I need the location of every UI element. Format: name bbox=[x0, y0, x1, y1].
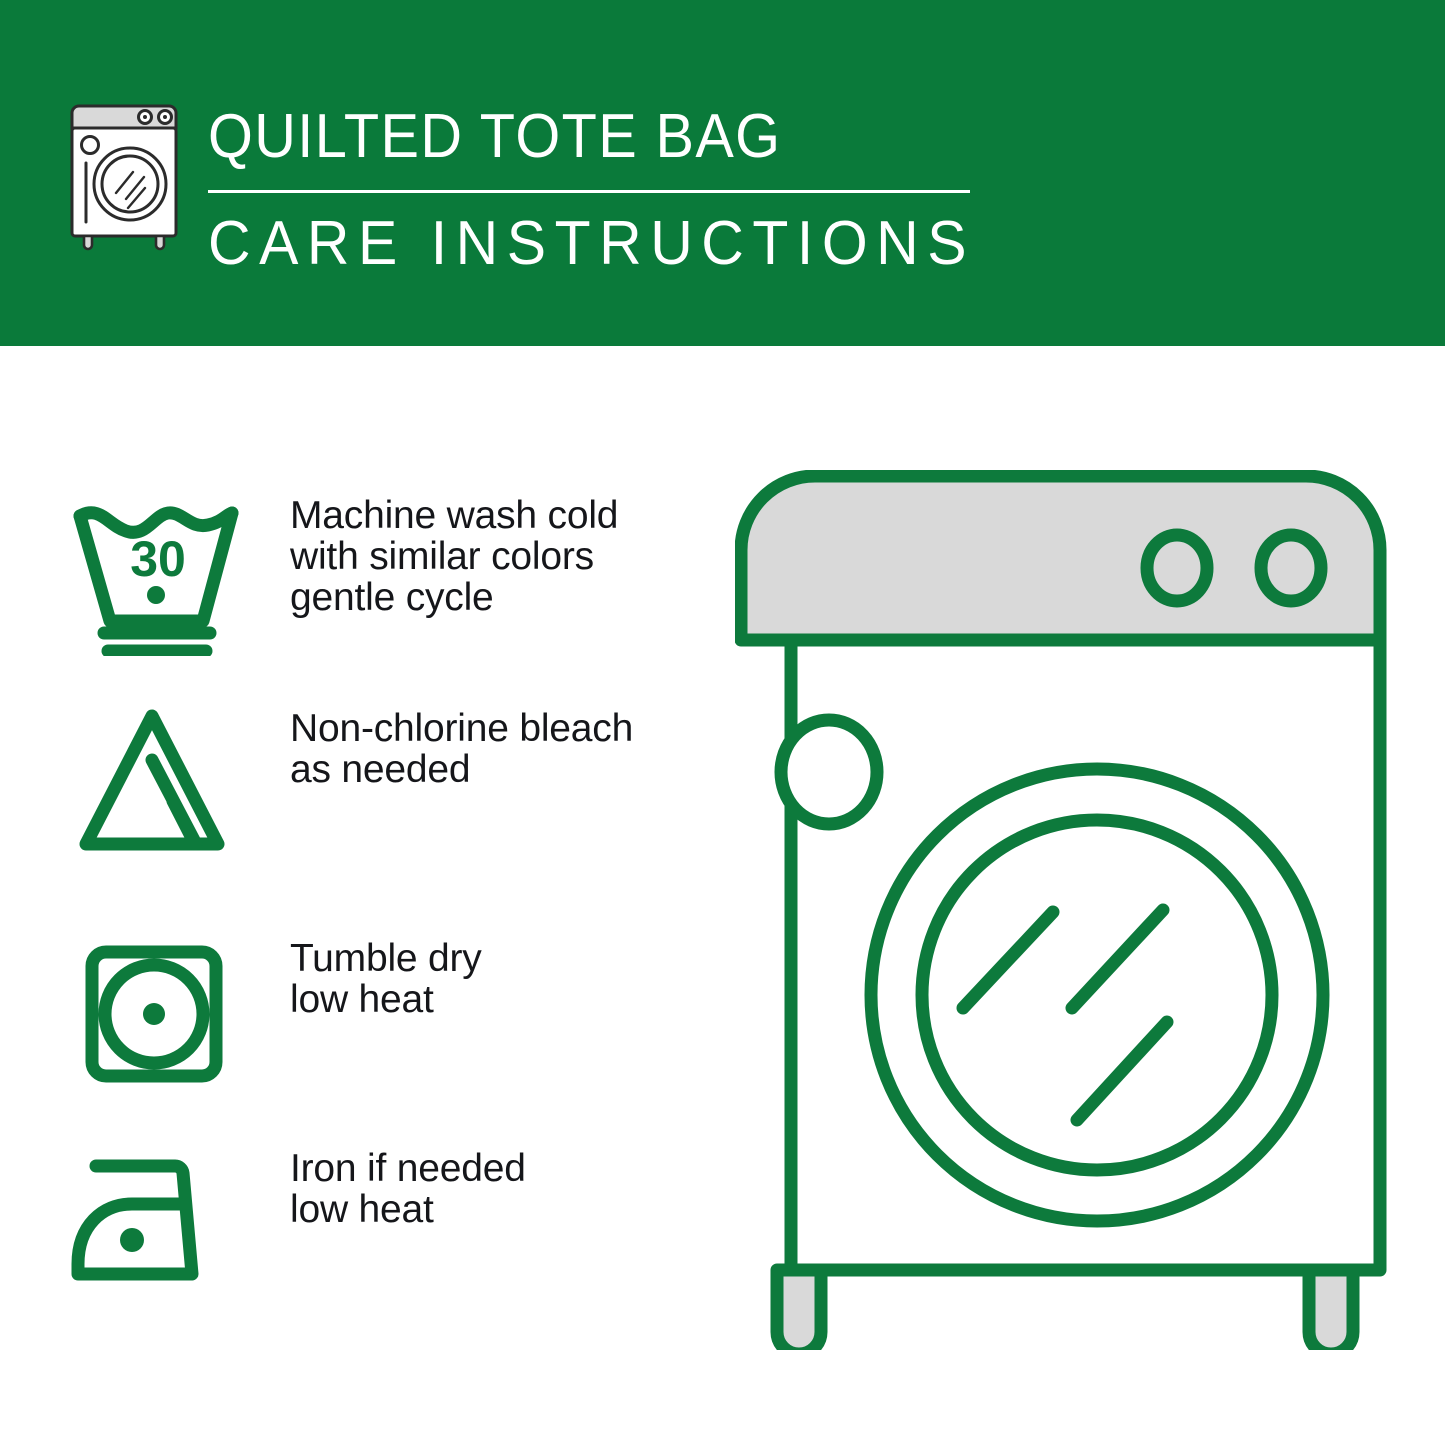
list-item-label: Non-chlorine bleach as needed bbox=[290, 704, 633, 790]
page-subtitle: CARE INSTRUCTIONS bbox=[208, 213, 975, 275]
svg-text:30: 30 bbox=[130, 531, 186, 587]
wash-tub-30-gentle-icon: 30 bbox=[70, 491, 250, 656]
instruction-list: 30 Machine wash cold with similar colors… bbox=[0, 346, 700, 1445]
header-banner: QUILTED TOTE BAG CARE INSTRUCTIONS bbox=[0, 0, 1445, 346]
washing-machine-icon bbox=[66, 100, 182, 252]
header-content: QUILTED TOTE BAG CARE INSTRUCTIONS bbox=[66, 100, 1015, 275]
non-chlorine-bleach-triangle-icon bbox=[70, 704, 250, 869]
list-item-label: Iron if needed low heat bbox=[290, 1144, 526, 1230]
front-load-washing-machine-illustration bbox=[735, 470, 1395, 1350]
tumble-dry-low-icon bbox=[70, 934, 250, 1099]
iron-low-heat-icon bbox=[70, 1144, 250, 1309]
list-item: Non-chlorine bleach as needed bbox=[0, 704, 700, 869]
title-block: QUILTED TOTE BAG CARE INSTRUCTIONS bbox=[208, 100, 1015, 275]
title-divider bbox=[208, 190, 970, 193]
care-instructions-card: QUILTED TOTE BAG CARE INSTRUCTIONS bbox=[0, 0, 1445, 1445]
list-item: Iron if needed low heat bbox=[0, 1144, 700, 1309]
list-item: Tumble dry low heat bbox=[0, 934, 700, 1099]
page-title: QUILTED TOTE BAG bbox=[208, 106, 959, 168]
list-item-label: Tumble dry low heat bbox=[290, 934, 482, 1020]
list-item: 30 Machine wash cold with similar colors… bbox=[0, 491, 700, 656]
list-item-label: Machine wash cold with similar colors ge… bbox=[290, 491, 618, 618]
